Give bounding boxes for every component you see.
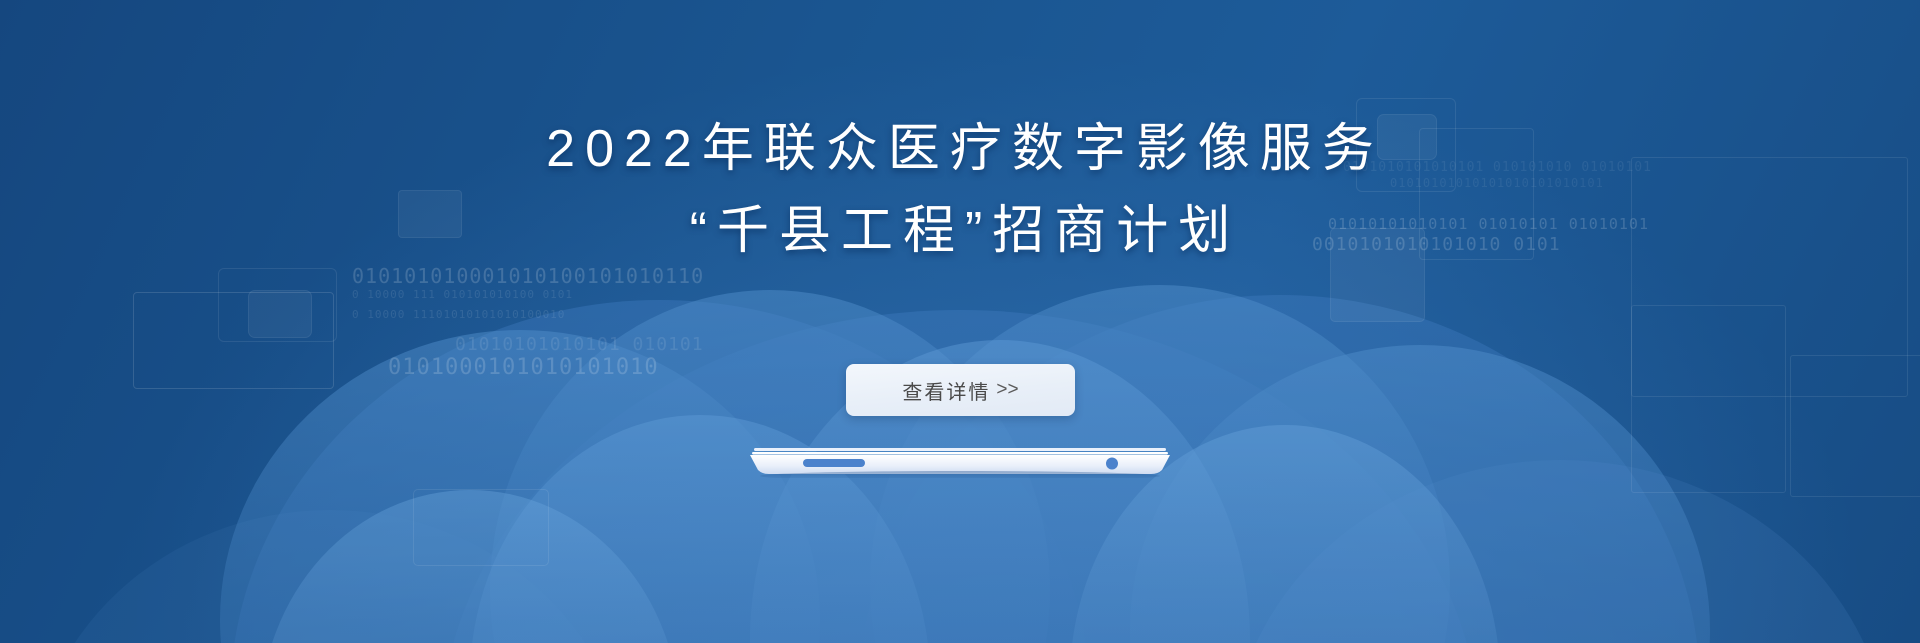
decor-rect-left-1 [133,292,334,389]
view-details-label: 查看详情 [902,376,990,405]
binary-text-5: 0101000101010101010 [388,355,659,380]
decor-rect-left-3 [248,290,312,338]
decor-rect-left-2 [218,268,337,342]
laptop-base-icon [748,446,1172,478]
double-chevron-right-icon: >> [996,379,1018,401]
promo-banner: 010101010001010100101010110 0 10000 111 … [0,0,1920,643]
cloud-background [0,0,1920,643]
title-line-2: “千县工程”招商计划 [0,190,1920,272]
binary-text-4: 01010101010101 010101 [455,334,704,355]
binary-text-2: 0 10000 111 010101010100 0101 [352,288,573,301]
decor-rect-right-6 [1631,305,1786,493]
decor-rect-right-7 [1790,355,1920,497]
decor-rect-left-4 [413,489,549,566]
binary-text-3: 0 10000 11101010101010100010 [352,308,565,321]
banner-title: 2022年联众医疗数字影像服务 “千县工程”招商计划 [0,108,1920,272]
cloud-layer-accent [30,460,1890,643]
title-line-1: 2022年联众医疗数字影像服务 [0,108,1920,190]
view-details-button[interactable]: 查看详情 >> [846,364,1075,416]
